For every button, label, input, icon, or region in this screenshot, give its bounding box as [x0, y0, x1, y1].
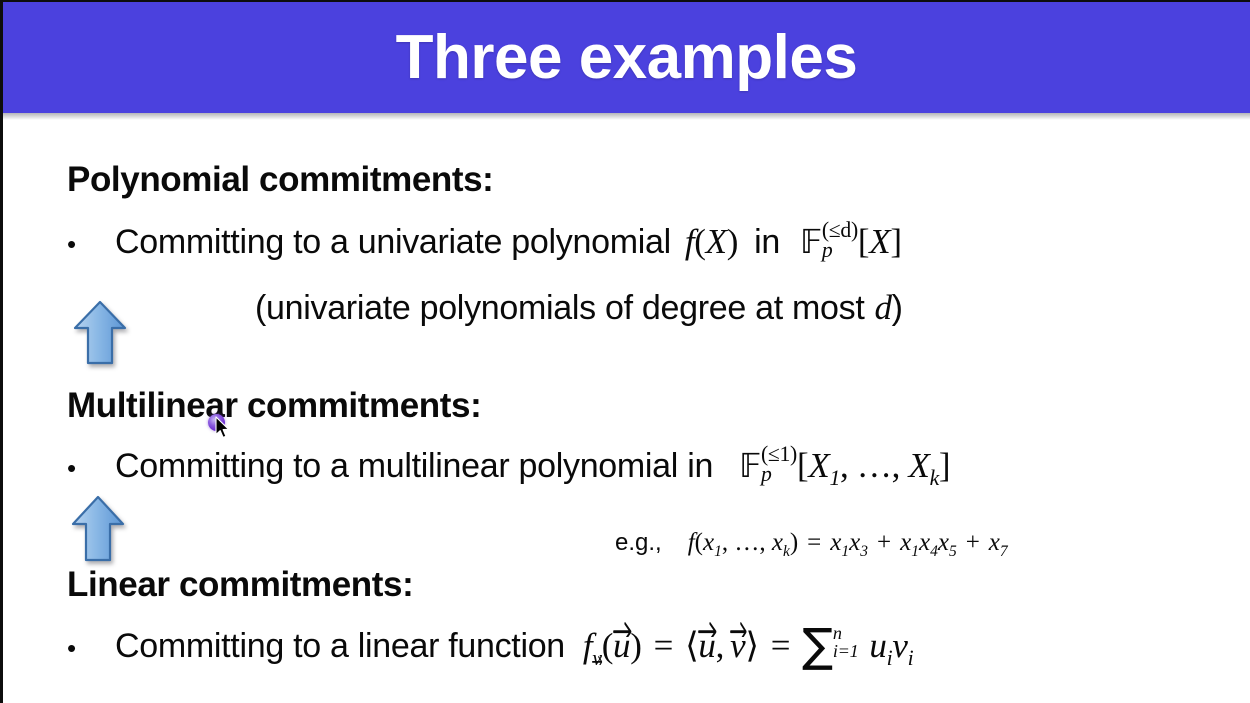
math-example-f: f(x1, …, xk)=x1x3+x1x4x5+x7 [688, 529, 1008, 556]
note-univariate-degree: (univariate polynomials of degree at mos… [255, 288, 903, 328]
heading-polynomial-commitments: Polynomial commitments: [67, 160, 493, 200]
heading-multilinear-commitments: Multilinear commitments: [67, 386, 481, 426]
title-bar-shadow [3, 113, 1250, 120]
field-exponent-subscript-d: (≤d)p [822, 220, 858, 261]
summation-limits: ni=1 [833, 624, 859, 661]
note-text-open: (univariate polynomials of degree at mos… [255, 289, 864, 327]
page-title: Three examples [3, 22, 1250, 94]
math-field-poly-ring-1: 𝔽(≤1)p[X1, …, Xk] [739, 446, 950, 485]
math-f-of-X: f(X) [685, 222, 738, 261]
bullet-point-icon [67, 627, 115, 666]
bullet-text-polynomial: Committing to a univariate polynomial [115, 223, 671, 261]
summation-icon: ∑ [802, 629, 833, 661]
bullet-point-icon [67, 447, 115, 486]
bullet-linear-commitments: Committing to a linear functionfv(u)=⟨u,… [67, 626, 913, 666]
math-linear-function: fv(u)=⟨u,v⟩=∑ni=1uivi [583, 626, 913, 665]
example-label: e.g., [615, 529, 662, 556]
up-arrow-icon [71, 495, 125, 562]
note-text-close: ) [892, 289, 903, 327]
heading-linear-commitments: Linear commitments: [67, 565, 413, 605]
cursor-arrow-icon [215, 416, 231, 440]
slide-canvas: Three examples Polynomial commitments: C… [0, 0, 1250, 703]
bullet-text-linear: Committing to a linear function [115, 627, 565, 665]
word-in-1: in [754, 223, 780, 261]
bullet-multilinear-commitments: Committing to a multilinear polynomial i… [67, 446, 950, 488]
bullet-text-multilinear: Committing to a multilinear polynomial i… [115, 447, 713, 485]
arrow-multilinear [71, 495, 125, 562]
up-arrow-icon [73, 300, 127, 365]
mouse-cursor [215, 416, 231, 440]
math-field-poly-ring-d: 𝔽(≤d)p[X] [800, 222, 902, 261]
bullet-point-icon [67, 223, 115, 262]
example-multilinear-polynomial: e.g.,f(x1, …, xk)=x1x3+x1x4x5+x7 [615, 529, 1008, 557]
slide-body: Polynomial commitments: Committing to a … [3, 120, 1250, 703]
bullet-polynomial-commitments: Committing to a univariate polynomialf(X… [67, 222, 902, 264]
field-exponent-subscript-1: (≤1)p [761, 444, 797, 485]
arrow-polynomial [73, 300, 127, 365]
math-d: d [874, 288, 891, 327]
